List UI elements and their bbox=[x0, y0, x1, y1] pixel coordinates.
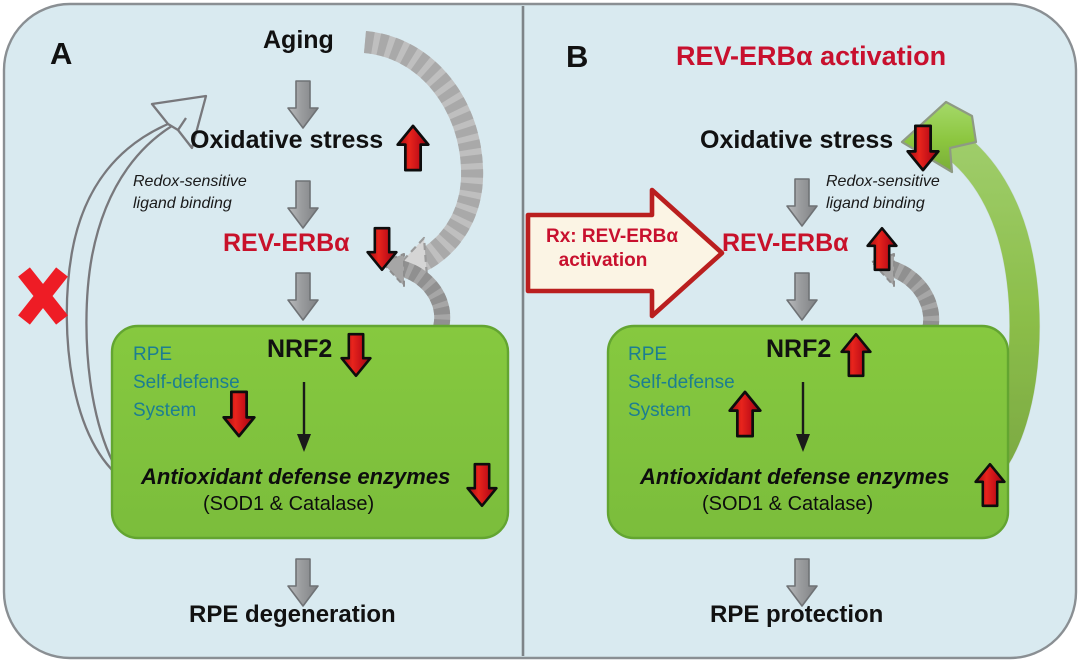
panel-b-outcome-label: RPE protection bbox=[710, 602, 883, 627]
panel-a-enzymes-sub: (SOD1 & Catalase) bbox=[203, 494, 374, 515]
panel-b-rev-erb-label: REV-ERBα bbox=[722, 230, 849, 256]
panel-b-title: REV-ERBα activation bbox=[676, 42, 946, 70]
diagram-graphics-layer bbox=[0, 0, 1080, 662]
panel-b-rx-line2: activation bbox=[546, 250, 660, 272]
panel-a-nrf2-label: NRF2 bbox=[267, 336, 332, 362]
panel-a-aging-label: Aging bbox=[263, 27, 334, 53]
panel-a-ligand-note-line1: Redox-sensitive bbox=[133, 172, 247, 192]
panel-b-ligand-note-line1: Redox-sensitive bbox=[826, 172, 940, 192]
panel-b-enzymes-sub: (SOD1 & Catalase) bbox=[702, 494, 873, 515]
panel-b-nrf2-label: NRF2 bbox=[766, 336, 831, 362]
panel-b-enzymes-label: Antioxidant defense enzymes bbox=[640, 465, 949, 488]
panel-b-ligand-note-line2: ligand binding bbox=[826, 194, 925, 214]
panel-a-rev-erb-label: REV-ERBα bbox=[223, 230, 350, 256]
panel-a-oxidative-stress-label: Oxidative stress bbox=[190, 127, 383, 153]
panel-a-letter: A bbox=[50, 38, 72, 71]
panel-a-system-line3: System bbox=[133, 398, 196, 423]
panel-a-system-line1: RPE bbox=[133, 342, 172, 367]
panel-a-ligand-note-line2: ligand binding bbox=[133, 194, 232, 214]
panel-b-system-line3: System bbox=[628, 398, 691, 423]
panel-b-rx-line1: Rx: REV-ERBα bbox=[546, 226, 660, 248]
panel-a-enzymes-label: Antioxidant defense enzymes bbox=[141, 465, 450, 488]
panel-a-system-line2: Self-defense bbox=[133, 370, 240, 395]
panel-b-system-line1: RPE bbox=[628, 342, 667, 367]
panel-b-oxidative-stress-label: Oxidative stress bbox=[700, 127, 893, 153]
figure-container: A Aging Oxidative stress Redox-sensitive… bbox=[0, 0, 1080, 662]
panel-b-system-line2: Self-defense bbox=[628, 370, 735, 395]
panel-a-outcome-label: RPE degeneration bbox=[189, 602, 396, 627]
panel-b-letter: B bbox=[566, 41, 588, 74]
